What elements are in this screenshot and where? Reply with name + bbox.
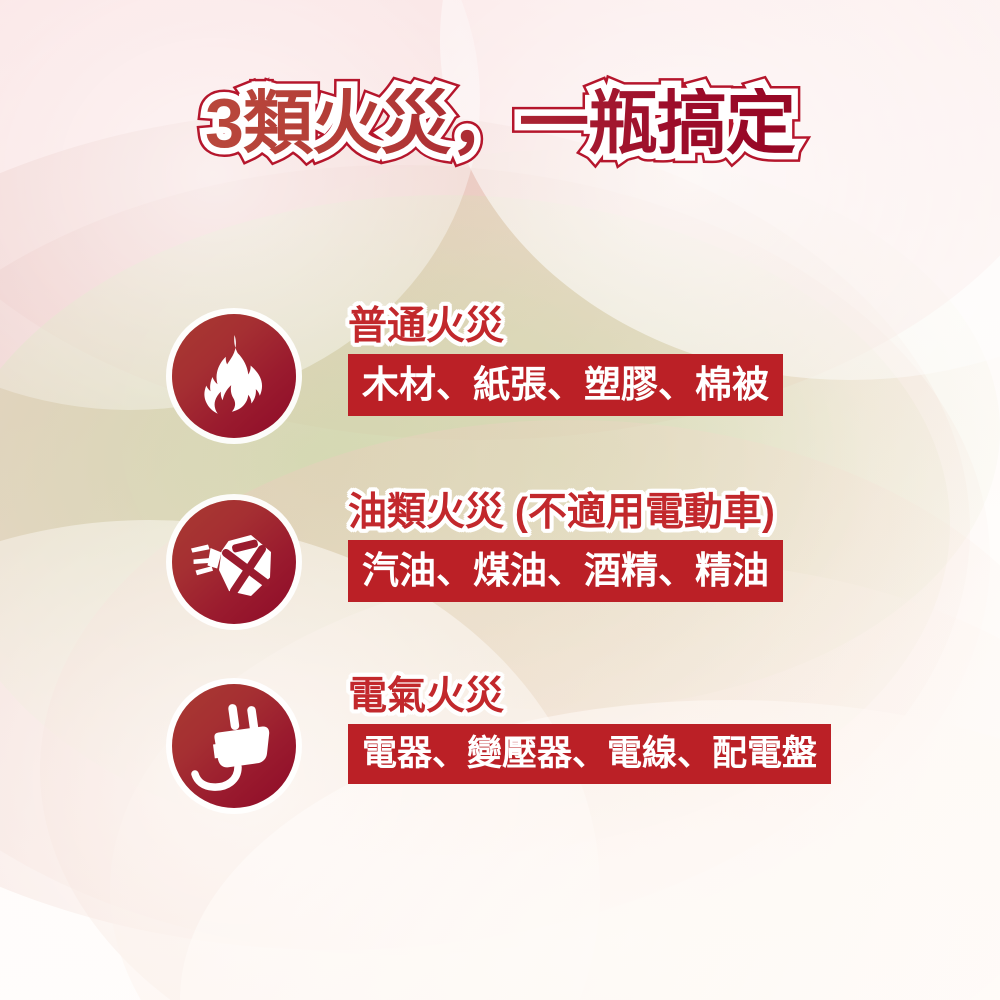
poster-title-fill: 3類火災，一瓶搞定 (205, 88, 795, 158)
fire-class-heading: 油類火災 (不適用電動車) (348, 492, 775, 534)
flame-icon (172, 314, 296, 438)
fire-class-heading: 電氣火災 (348, 676, 504, 718)
fire-class-banner: 汽油、煤油、酒精、精油 (348, 540, 783, 602)
fire-class-text-block: 油類火災 (不適用電動車) 汽油、煤油、酒精、精油 (348, 492, 783, 602)
fire-class-banner: 木材、紙張、塑膠、棉被 (348, 354, 783, 416)
fire-class-row: 電氣火災 電器、變壓器、電線、配電盤 (172, 676, 831, 808)
fire-class-row: 普通火災 木材、紙張、塑膠、棉被 (172, 306, 783, 438)
power-plug-icon (172, 684, 296, 808)
poster-title: 3類火災，一瓶搞定 3類火災，一瓶搞定 3類火災，一瓶搞定 (0, 88, 1000, 158)
fire-class-heading: 普通火災 (348, 306, 504, 348)
fire-class-banner: 電器、變壓器、電線、配電盤 (348, 724, 831, 784)
fire-class-row: 油類火災 (不適用電動車) 汽油、煤油、酒精、精油 (172, 492, 783, 624)
fuel-can-no-icon (172, 500, 296, 624)
fire-class-text-block: 普通火災 木材、紙張、塑膠、棉被 (348, 306, 783, 416)
fire-class-text-block: 電氣火災 電器、變壓器、電線、配電盤 (348, 676, 831, 784)
poster-canvas: 3類火災，一瓶搞定 3類火災，一瓶搞定 3類火災，一瓶搞定 普通火災 木材、紙張… (0, 0, 1000, 1000)
poster-title-stack: 3類火災，一瓶搞定 3類火災，一瓶搞定 3類火災，一瓶搞定 (205, 88, 795, 158)
